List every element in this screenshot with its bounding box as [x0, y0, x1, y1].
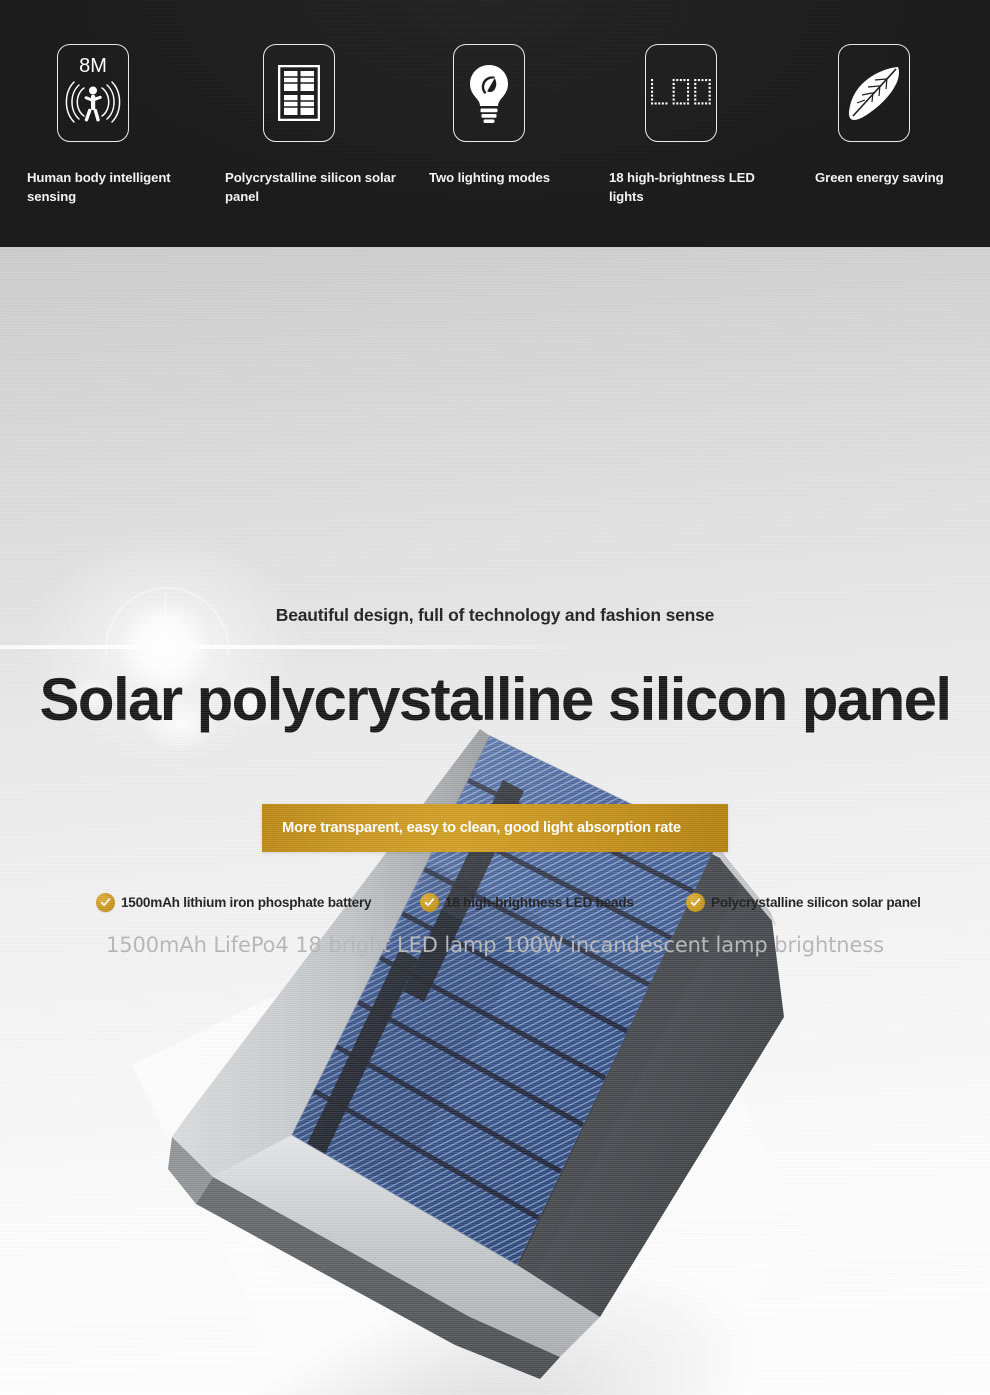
feature-label: Polycrystalline silicon solar panel [225, 168, 400, 206]
checklist-item-solar-panel[interactable]: Polycrystalline silicon solar panel [686, 893, 921, 912]
checklist-label: 1500mAh lithium iron phosphate battery [121, 895, 371, 910]
feature-label: Human body intelligent sensing [27, 168, 217, 206]
page-title: Solar polycrystalline silicon panel [0, 665, 990, 734]
checklist-label: Polycrystalline silicon solar panel [711, 895, 921, 910]
product-description: 1500mAh LifePo4 18 bright LED lamp 100W … [0, 933, 990, 957]
checklist-label: 18 high-brightness LED beads [445, 895, 634, 910]
highlight-banner-text: More transparent, easy to clean, good li… [282, 820, 681, 836]
feature-label: Two lighting modes [429, 168, 609, 187]
product-marketing-page: 8M [0, 0, 990, 1395]
feature-item-motion-sensing[interactable]: 8M [57, 44, 129, 142]
check-icon [96, 893, 115, 912]
feature-bar: 8M [0, 0, 990, 247]
checklist: 1500mAh lithium iron phosphate battery 1… [0, 893, 990, 919]
feature-item-led-lights[interactable]: 18 high-brightness LED lights [645, 44, 717, 142]
led-dotmatrix-icon [645, 44, 717, 142]
check-icon [686, 893, 705, 912]
highlight-banner: More transparent, easy to clean, good li… [262, 804, 728, 852]
feature-item-lighting-modes[interactable]: Two lighting modes [453, 44, 525, 142]
feature-label: 18 high-brightness LED lights [609, 168, 784, 206]
checklist-item-led-beads[interactable]: 18 high-brightness LED beads [420, 893, 634, 912]
hero-section: Beautiful design, full of technology and… [0, 247, 990, 1395]
feature-row: 8M [0, 0, 990, 247]
feature-item-green-energy[interactable]: Green energy saving [838, 44, 910, 142]
svg-text:8M: 8M [79, 55, 107, 77]
solar-panel-icon [263, 44, 335, 142]
feature-label: Green energy saving [815, 168, 990, 187]
hero-subtitle: Beautiful design, full of technology and… [0, 605, 990, 626]
motion-sensor-8m-icon: 8M [57, 44, 129, 142]
check-icon [420, 893, 439, 912]
feature-item-solar-panel[interactable]: Polycrystalline silicon solar panel [263, 44, 335, 142]
lightbulb-leaf-icon [453, 44, 525, 142]
feather-leaf-icon [838, 44, 910, 142]
checklist-item-battery[interactable]: 1500mAh lithium iron phosphate battery [96, 893, 371, 912]
